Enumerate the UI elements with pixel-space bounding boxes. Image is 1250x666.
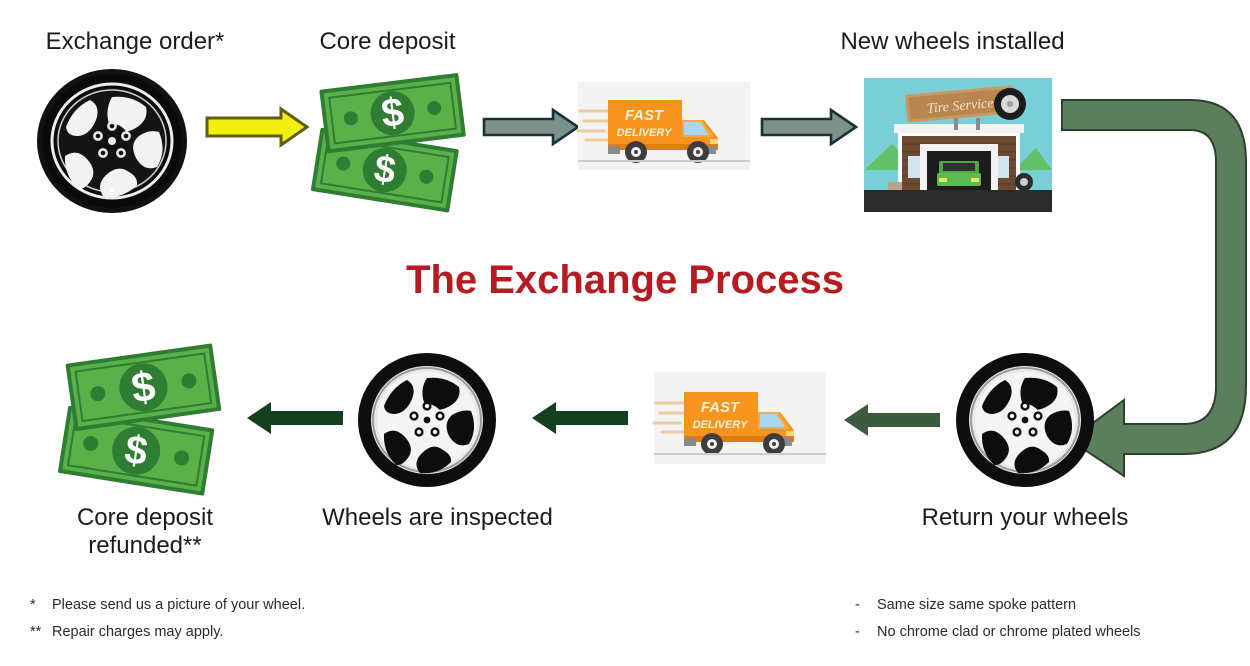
label-core-deposit-refunded: Core deposit refunded** <box>30 504 260 561</box>
footnote-left-1: *Please send us a picture of your wheel. <box>30 592 305 619</box>
money-icon: $ $ <box>312 78 478 204</box>
wheel-return-icon <box>955 352 1095 488</box>
delivery-truck-return-icon: FAST DELIVERY <box>654 372 826 464</box>
arrow-deposit-to-truck <box>482 108 580 146</box>
truck-return-text-line1: FAST <box>701 399 741 416</box>
wheel-dark-icon <box>36 68 188 214</box>
arrow-truck-to-shop <box>760 108 858 146</box>
arrow-order-to-deposit <box>205 107 310 147</box>
footnote-text: No chrome clad or chrome plated wheels <box>877 624 1141 640</box>
label-refund-line2: refunded** <box>88 532 201 559</box>
label-new-wheels-installed: New wheels installed <box>795 28 1110 56</box>
page-title: The Exchange Process <box>225 258 1025 303</box>
exchange-process-diagram: Exchange order* Core deposit New wheels … <box>0 0 1250 666</box>
footnote-text: Repair charges may apply. <box>52 624 223 640</box>
footnote-marker: ** <box>30 619 52 646</box>
truck-text-line2: DELIVERY <box>617 127 673 139</box>
label-return-your-wheels: Return your wheels <box>885 504 1165 532</box>
label-exchange-order: Exchange order* <box>10 28 260 56</box>
footnote-text: Please send us a picture of your wheel. <box>52 597 305 613</box>
label-core-deposit: Core deposit <box>275 28 500 56</box>
tire-service-shop-icon: Tire Service <box>864 78 1052 212</box>
footnote-left-2: **Repair charges may apply. <box>30 619 305 646</box>
arrow-truck-to-inspection <box>530 400 630 436</box>
footnote-right-2: -No chrome clad or chrome plated wheels <box>855 619 1141 646</box>
truck-text-line1: FAST <box>625 107 665 124</box>
footnotes-left: *Please send us a picture of your wheel.… <box>30 592 305 646</box>
footnote-marker: - <box>855 592 877 619</box>
arrow-inspection-to-refund <box>245 400 345 436</box>
label-refund-line1: Core deposit <box>77 504 213 531</box>
footnotes-right: -Same size same spoke pattern -No chrome… <box>855 592 1141 646</box>
money-refund-icon: $ $ <box>58 352 234 486</box>
footnote-text: Same size same spoke pattern <box>877 597 1076 613</box>
label-wheels-inspected: Wheels are inspected <box>290 504 585 532</box>
footnote-marker: * <box>30 592 52 619</box>
footnote-right-1: -Same size same spoke pattern <box>855 592 1141 619</box>
wheel-light-icon <box>357 352 497 488</box>
delivery-truck-icon: FAST DELIVERY <box>578 82 750 170</box>
truck-return-text-line2: DELIVERY <box>693 419 749 431</box>
footnote-marker: - <box>855 619 877 646</box>
arrow-return-to-truck <box>842 402 942 438</box>
